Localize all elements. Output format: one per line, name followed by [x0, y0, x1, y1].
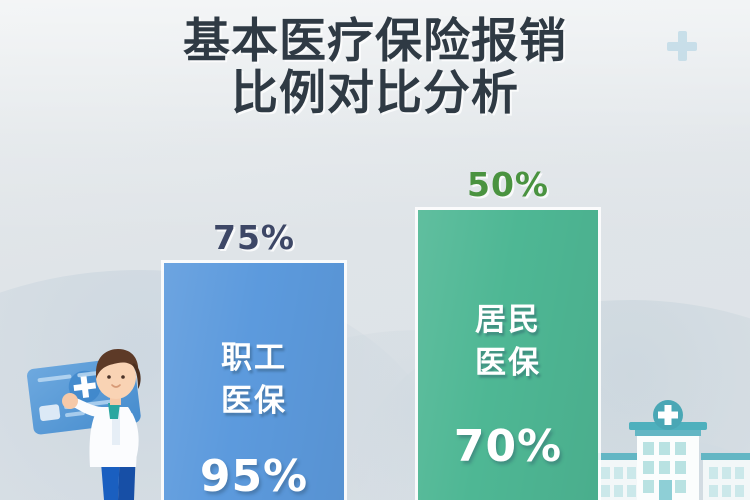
bar-top-label-employee: 75%	[164, 220, 344, 256]
doctor-svg	[8, 335, 188, 500]
title-line-1: 基本医疗保险报销	[0, 16, 750, 68]
hospital-building-illustration	[585, 395, 750, 500]
bar-label-employee-line1: 职工	[164, 338, 344, 378]
title-line-2: 比例对比分析	[0, 68, 750, 120]
bar-value-employee: 95%	[164, 453, 344, 500]
bar-top-label-resident: 50%	[418, 167, 598, 203]
page-title: 基本医疗保险报销 比例对比分析	[0, 16, 750, 120]
bar-label-resident-line1: 居民	[418, 300, 598, 340]
bar-employee[interactable]: 职工 医保 95%	[164, 263, 344, 500]
bar-label-resident-line2: 医保	[418, 343, 598, 383]
bar-resident[interactable]: 居民 医保 70%	[418, 210, 598, 500]
bar-label-employee-line2: 医保	[164, 381, 344, 421]
infographic-canvas: 基本医疗保险报销 比例对比分析 75% 职工 医保 95% 50% 居民 医保 …	[0, 0, 750, 500]
doctor-with-insurance-card-illustration	[8, 335, 188, 500]
hospital-svg	[585, 395, 750, 500]
bar-value-resident: 70%	[418, 423, 598, 471]
